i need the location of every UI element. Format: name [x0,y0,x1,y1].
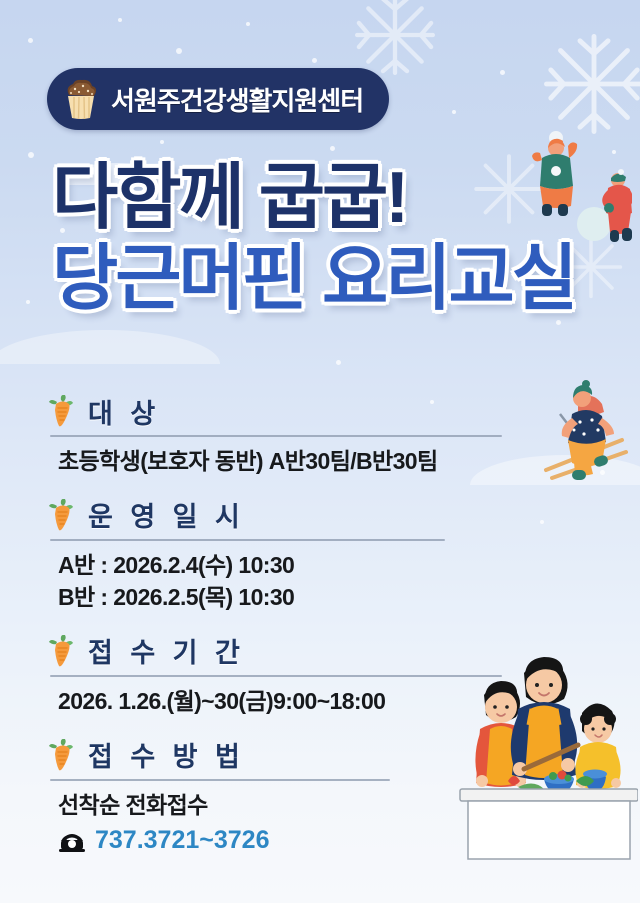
section-divider [50,539,445,541]
skier-illustration [538,378,630,483]
section-body: 2026. 1.26.(월)~30(금)9:00~18:00 [58,685,518,718]
phone-number: 737.3721~3726 [95,823,270,859]
snowflake-icon [352,0,438,78]
section-line: 2026. 1.26.(월)~30(금)9:00~18:00 [58,685,518,718]
section-body: 선착순 전화접수 737.3721~3726 [58,789,518,859]
snow-hill [0,330,220,364]
section-divider [50,779,390,781]
section-registration-method: 접 수 방 법 선착순 전화접수 737.3721~3726 [48,736,518,859]
title-line-2: 당근머핀 요리교실 [52,243,572,316]
carrot-icon [48,499,76,531]
section-divider [50,435,502,437]
section-schedule: 운 영 일 시 A반 : 2026.2.4(수) 10:30 B반 : 2026… [48,496,518,614]
phone-contact[interactable]: 737.3721~3726 [58,823,518,859]
section-label: 접 수 기 간 [88,631,245,670]
section-body: 초등학생(보호자 동반) A반30팀/B반30팀 [58,445,518,478]
section-line: 초등학생(보호자 동반) A반30팀/B반30팀 [58,445,518,478]
snowflake-icon [540,30,640,138]
carrot-icon [48,635,76,667]
organization-badge: 서원주건강생활지원센터 [47,68,389,130]
section-line: 선착순 전화접수 [58,789,518,822]
section-line: A반 : 2026.2.4(수) 10:30 [58,549,518,582]
family-cooking-illustration [458,637,638,867]
section-registration-period: 접 수 기 간 2026. 1.26.(월)~30(금)9:00~18:00 [48,632,518,718]
poster-title: 다함께 굽굽! 당근머핀 요리교실 [52,162,572,317]
telephone-icon [58,828,86,854]
info-list: 대 상 초등학생(보호자 동반) A반30팀/B반30팀 [48,392,518,877]
title-line-1: 다함께 굽굽! [52,162,572,235]
muffin-icon [61,77,101,121]
section-label: 운 영 일 시 [88,495,245,534]
section-label: 접 수 방 법 [88,735,245,774]
carrot-icon [48,395,76,427]
poster-canvas: 서원주건강생활지원센터 다함께 굽굽! 당근머핀 요리교실 [0,0,640,903]
section-label: 대 상 [88,392,160,431]
section-body: A반 : 2026.2.4(수) 10:30 B반 : 2026.2.5(목) … [58,549,518,614]
carrot-icon [48,739,76,771]
snowball-kids-illustration [520,128,632,248]
section-divider [50,675,502,677]
section-line: B반 : 2026.2.5(목) 10:30 [58,581,518,614]
section-target: 대 상 초등학생(보호자 동반) A반30팀/B반30팀 [48,392,518,478]
organization-name: 서원주건강생활지원센터 [111,81,363,118]
